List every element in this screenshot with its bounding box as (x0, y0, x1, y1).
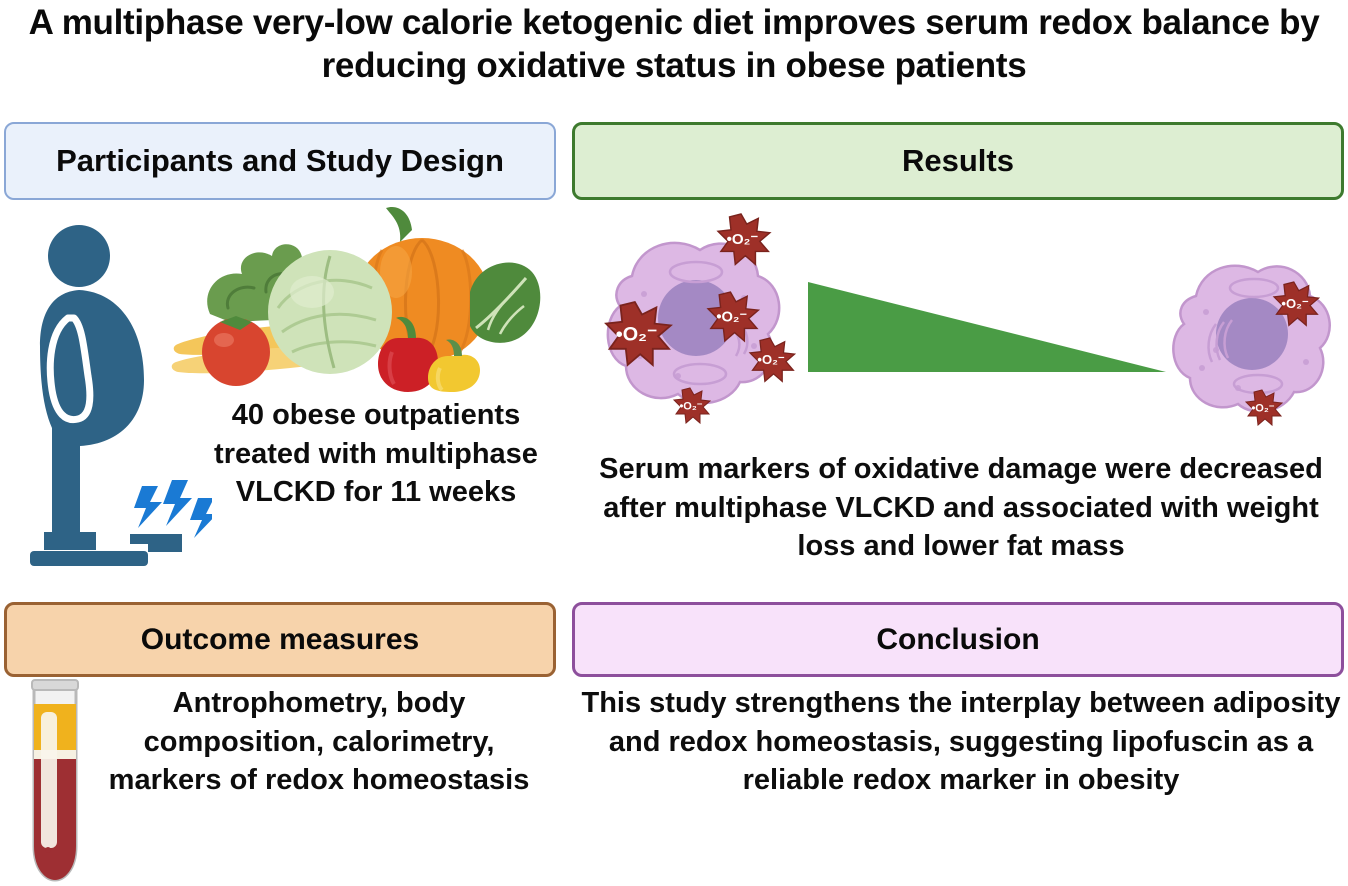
cell-high-oxidative-stress: •O₂⁻ •O₂⁻ •O₂⁻ •O₂⁻ •O₂⁻ (578, 206, 813, 436)
svg-text:•O₂⁻: •O₂⁻ (616, 324, 658, 346)
panel-body-outcome-measures: Antrophometry, body composition, calorim… (84, 684, 554, 800)
tomato-icon (202, 316, 270, 386)
decreasing-wedge-arrow (808, 280, 1168, 380)
panel-header-conclusion: Conclusion (572, 602, 1344, 677)
panel-body-participants: 40 obese outpatients treated with multip… (196, 396, 556, 512)
tube-cap (32, 680, 78, 690)
nucleus (1216, 298, 1288, 370)
svg-text:•O₂⁻: •O₂⁻ (716, 309, 747, 325)
svg-text:•O₂⁻: •O₂⁻ (1251, 403, 1274, 415)
vegetables-illustration (170, 196, 542, 392)
blood-collection-tube-icon (24, 672, 86, 886)
label-strip (41, 712, 57, 848)
panel-header-conclusion-label: Conclusion (876, 623, 1039, 657)
svg-text:•O₂⁻: •O₂⁻ (727, 231, 759, 248)
svg-text:•O₂⁻: •O₂⁻ (679, 401, 702, 413)
panel-header-participants: Participants and Study Design (4, 122, 556, 200)
leafy-greens-right-icon (470, 262, 540, 342)
panel-header-results-label: Results (902, 143, 1014, 179)
svg-text:•O₂⁻: •O₂⁻ (757, 352, 784, 367)
graphical-abstract: A multiphase very-low calorie ketogenic … (0, 0, 1348, 886)
cabbage-icon (268, 250, 392, 374)
panel-body-results: Serum markers of oxidative damage were d… (580, 450, 1342, 566)
panel-header-outcome-measures-label: Outcome measures (141, 623, 419, 657)
panel-header-participants-label: Participants and Study Design (56, 143, 504, 179)
svg-text:•O₂⁻: •O₂⁻ (1281, 296, 1308, 311)
panel-header-results: Results (572, 122, 1344, 200)
panel-body-conclusion: This study strengthens the interplay bet… (580, 684, 1342, 800)
page-title: A multiphase very-low calorie ketogenic … (0, 2, 1348, 87)
panel-header-outcome-measures: Outcome measures (4, 602, 556, 677)
cell-low-oxidative-stress: •O₂⁻ •O₂⁻ (1150, 238, 1346, 434)
